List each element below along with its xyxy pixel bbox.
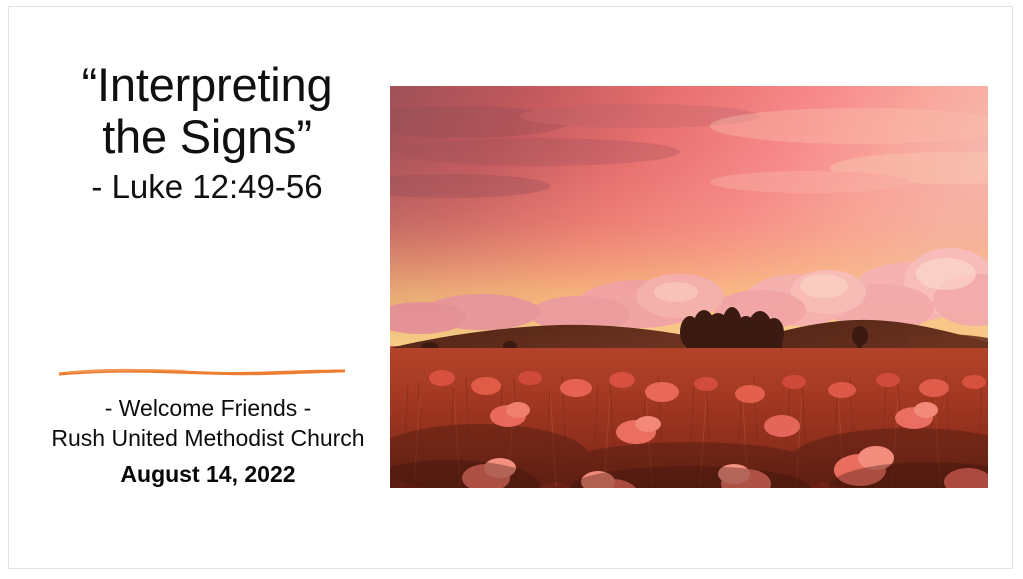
- sunset-wildflower-field-photo: [390, 86, 988, 488]
- sunset-wildflower-field-image: [390, 86, 988, 488]
- subtitle-block: - Welcome Friends - Rush United Methodis…: [49, 392, 367, 491]
- slide-title-line-2: the Signs”: [57, 111, 357, 163]
- title-block: “Interpreting the Signs” - Luke 12:49-56: [57, 59, 357, 208]
- slide-title-line-1: “Interpreting: [57, 59, 357, 111]
- slide-date: August 14, 2022: [49, 457, 367, 491]
- welcome-text: - Welcome Friends -: [49, 392, 367, 425]
- orange-brush-divider: [57, 362, 347, 384]
- slide-frame: “Interpreting the Signs” - Luke 12:49-56…: [0, 0, 1023, 579]
- scripture-reference: - Luke 12:49-56: [57, 166, 357, 208]
- church-name: Rush United Methodist Church: [49, 425, 367, 451]
- slide-canvas: “Interpreting the Signs” - Luke 12:49-56…: [9, 7, 1012, 568]
- orange-brush-divider-icon: [57, 362, 347, 384]
